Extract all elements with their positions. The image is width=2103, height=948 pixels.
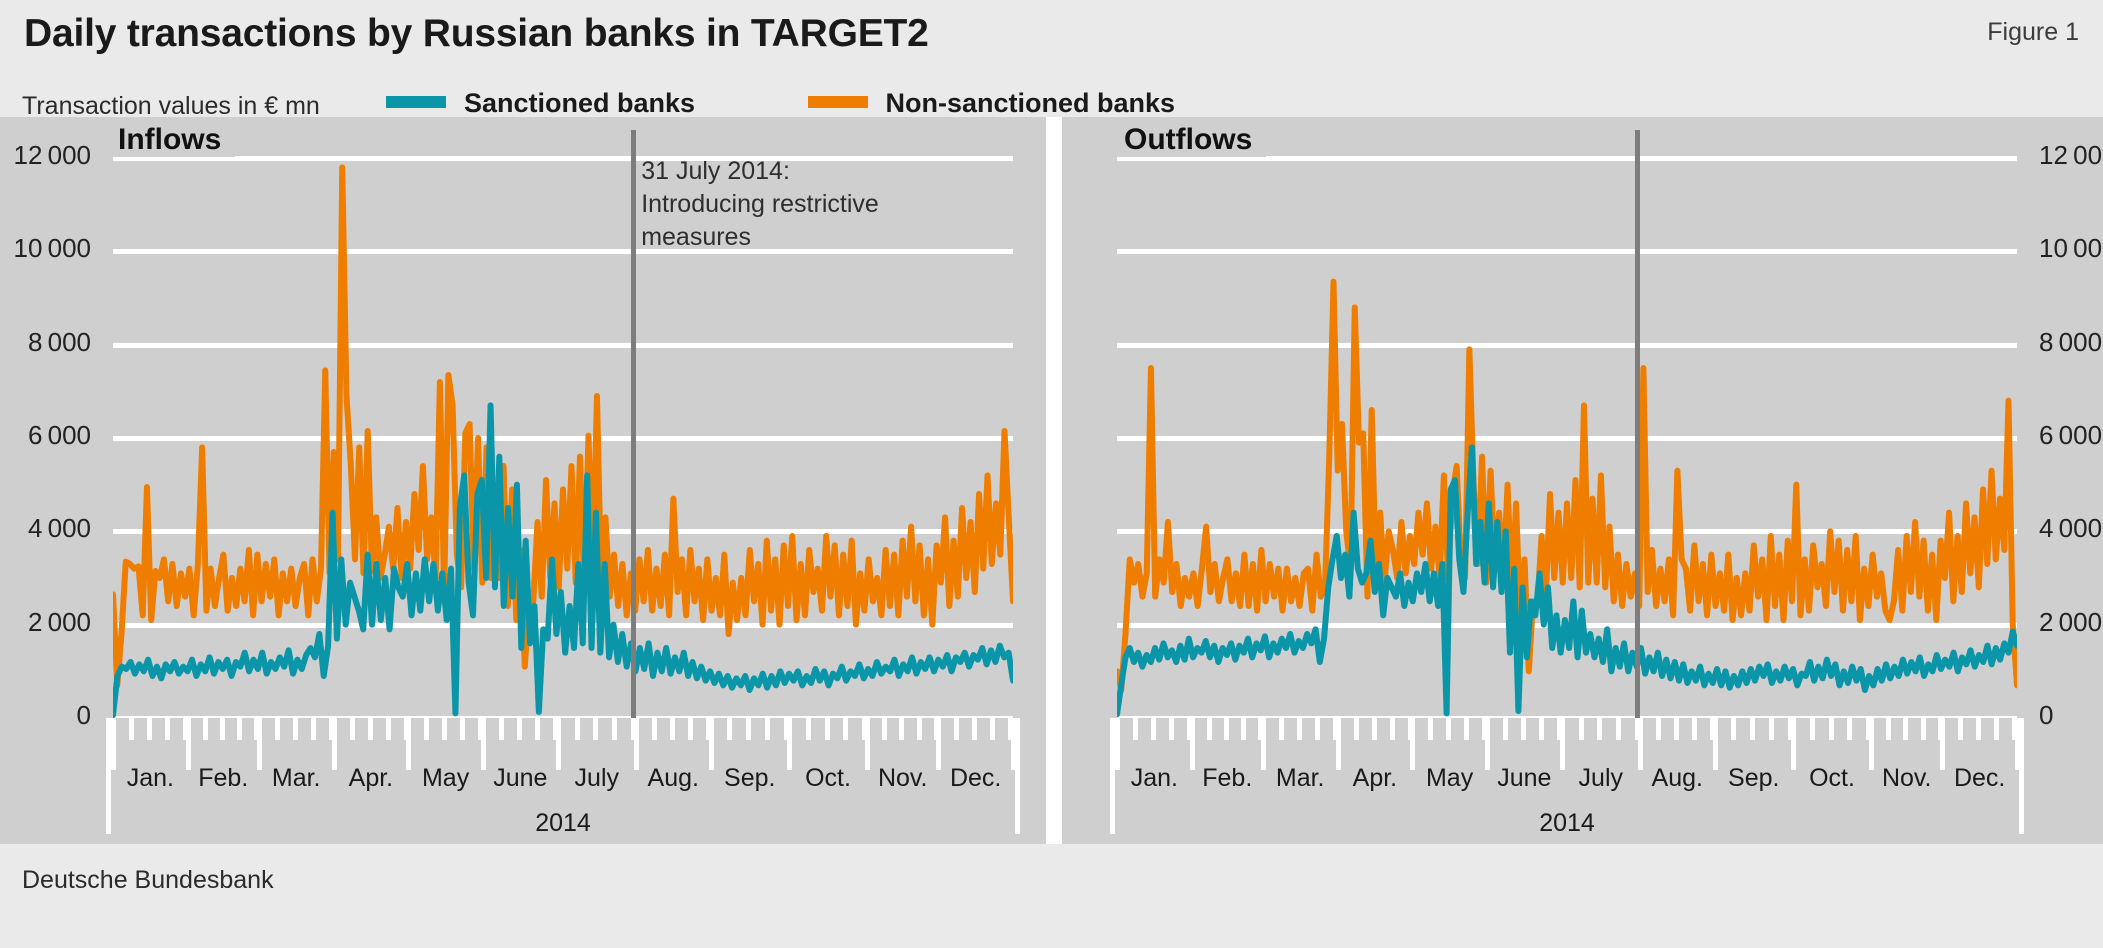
x-axis-week-tick	[917, 718, 922, 740]
x-axis-month-tick	[865, 718, 870, 770]
x-axis-week-tick	[1428, 718, 1433, 740]
x-axis-month-tick	[257, 718, 262, 770]
x-axis-week-tick	[612, 718, 617, 740]
x-axis-week-tick	[1958, 718, 1963, 740]
figure-footer: Deutsche Bundesbank	[0, 844, 2103, 948]
y-axis-tick-label: 0	[0, 700, 91, 731]
y-axis-tick-label: 12 000	[2039, 140, 2103, 171]
x-axis-month-tick	[332, 718, 337, 770]
x-axis-week-tick	[1903, 718, 1908, 740]
x-axis-week-tick	[460, 718, 465, 740]
series-svg	[1117, 130, 2017, 718]
x-axis-month-tick	[186, 718, 191, 770]
x-axis-week-tick	[1521, 718, 1526, 740]
x-axis-month-tick	[709, 718, 714, 770]
x-axis-week-tick	[593, 718, 598, 740]
x-axis-week-tick	[1539, 718, 1544, 740]
x-axis-week-tick	[1224, 718, 1229, 740]
x-axis-month-tick	[556, 718, 561, 770]
x-axis-month-tick	[1560, 718, 1565, 770]
x-axis-year-inflows: 2014	[113, 809, 1013, 838]
x-axis-week-tick	[237, 718, 242, 740]
x-axis-month-tick	[634, 718, 639, 770]
x-axis-week-tick	[806, 718, 811, 740]
x-axis-week-tick	[1503, 718, 1508, 740]
x-axis-month-tick	[1485, 718, 1490, 770]
x-axis-week-tick	[670, 718, 675, 740]
x-axis-month-tick	[1336, 718, 1341, 770]
charts-band: Inflows 31 July 2014: Introducing restri…	[0, 117, 2103, 844]
x-axis-week-tick	[746, 718, 751, 740]
y-axis-tick-label: 12 000	[0, 140, 91, 171]
x-axis-week-tick	[424, 718, 429, 740]
x-axis-week-tick	[1674, 718, 1679, 740]
x-axis-month-tick	[1940, 718, 1945, 770]
x-axis-week-tick	[1151, 718, 1156, 740]
chart-legend: Sanctioned banks Non-sanctioned banks	[386, 88, 1283, 120]
y-axis-tick-label: 4 000	[2039, 513, 2103, 544]
figure-page: Daily transactions by Russian banks in T…	[0, 0, 2103, 948]
x-axis-week-tick	[147, 718, 152, 740]
x-axis-week-tick	[220, 718, 225, 740]
y-axis-tick-label: 10 000	[2039, 233, 2103, 264]
x-axis-month-label: Dec.	[916, 764, 1036, 793]
x-axis-week-tick	[293, 718, 298, 740]
y-axis-tick-label: 2 000	[2039, 607, 2103, 638]
x-axis-month-tick	[2015, 718, 2020, 770]
x-axis-week-tick	[1886, 718, 1891, 740]
x-axis-month-tick	[1791, 718, 1796, 770]
event-vertical-line	[1635, 130, 1640, 718]
x-axis-week-tick	[652, 718, 657, 740]
event-annotation: 31 July 2014: Introducing restrictive me…	[641, 155, 879, 254]
figure-number-label: Figure 1	[1987, 18, 2079, 47]
x-axis-week-tick	[990, 718, 995, 740]
x-axis-month-tick	[1011, 718, 1016, 770]
x-axis-year-outflows: 2014	[1117, 809, 2017, 838]
legend-item-sanctioned: Sanctioned banks	[386, 88, 695, 119]
x-axis-week-tick	[1579, 718, 1584, 740]
legend-swatch-non-sanctioned	[808, 96, 868, 108]
x-axis-week-tick	[843, 718, 848, 740]
x-axis-week-tick	[517, 718, 522, 740]
x-axis-week-tick	[1446, 718, 1451, 740]
x-axis-week-tick	[1597, 718, 1602, 740]
legend-item-non-sanctioned: Non-sanctioned banks	[808, 88, 1176, 119]
x-axis-week-tick	[386, 718, 391, 740]
panel-inflows: Inflows 31 July 2014: Introducing restri…	[0, 117, 1046, 844]
x-axis-month-tick	[1638, 718, 1643, 770]
legend-swatch-sanctioned	[386, 96, 446, 108]
x-axis-month-tick	[406, 718, 411, 770]
x-axis-week-tick	[765, 718, 770, 740]
x-axis-month-tick	[1869, 718, 1874, 770]
x-axis-week-tick	[1372, 718, 1377, 740]
legend-label-sanctioned: Sanctioned banks	[464, 88, 695, 119]
y-axis-tick-label: 6 000	[2039, 420, 2103, 451]
x-axis-week-tick	[499, 718, 504, 740]
x-axis-week-tick	[1315, 718, 1320, 740]
x-axis-week-tick	[129, 718, 134, 740]
legend-label-non-sanctioned: Non-sanctioned banks	[886, 88, 1176, 119]
x-axis-week-tick	[825, 718, 830, 740]
x-axis-week-tick	[1297, 718, 1302, 740]
x-axis-week-tick	[954, 718, 959, 740]
x-axis-week-tick	[575, 718, 580, 740]
page-title: Daily transactions by Russian banks in T…	[24, 12, 929, 56]
x-axis-month-tick	[1115, 718, 1120, 770]
y-axis-tick-label: 10 000	[0, 233, 91, 264]
x-axis-week-tick	[1810, 718, 1815, 740]
x-axis-week-tick	[1692, 718, 1697, 740]
event-vertical-line	[631, 130, 636, 718]
x-axis-week-tick	[1169, 718, 1174, 740]
x-axis-week-tick	[203, 718, 208, 740]
x-axis-week-tick	[1279, 718, 1284, 740]
x-axis-week-tick	[535, 718, 540, 740]
x-axis-month-label: Dec.	[1920, 764, 2040, 793]
x-axis-week-tick	[727, 718, 732, 740]
x-axis-month-tick	[936, 718, 941, 770]
x-axis-week-tick	[442, 718, 447, 740]
x-axis-week-tick	[1390, 718, 1395, 740]
x-axis-week-tick	[1994, 718, 1999, 740]
x-axis-week-tick	[1750, 718, 1755, 740]
x-axis-month-tick	[1190, 718, 1195, 770]
panel-title-inflows: Inflows	[104, 123, 235, 157]
y-axis-tick-label: 8 000	[2039, 327, 2103, 358]
x-axis-week-tick	[165, 718, 170, 740]
source-label: Deutsche Bundesbank	[22, 866, 274, 895]
x-axis-week-tick	[882, 718, 887, 740]
x-axis-week-tick	[1921, 718, 1926, 740]
panel-title-outflows: Outflows	[1110, 123, 1266, 157]
y-axis-tick-label: 8 000	[0, 327, 91, 358]
x-axis-week-tick	[1133, 718, 1138, 740]
plot-area-outflows	[1117, 130, 2017, 718]
y-axis-tick-label: 4 000	[0, 513, 91, 544]
x-axis-week-tick	[1829, 718, 1834, 740]
x-axis-week-tick	[1731, 718, 1736, 740]
x-axis-week-tick	[311, 718, 316, 740]
x-axis-week-tick	[275, 718, 280, 740]
y-axis-tick-label: 6 000	[0, 420, 91, 451]
x-axis-week-tick	[1207, 718, 1212, 740]
x-axis-week-tick	[1976, 718, 1981, 740]
x-axis-week-tick	[1769, 718, 1774, 740]
x-axis-month-tick	[481, 718, 486, 770]
x-axis-week-tick	[1354, 718, 1359, 740]
x-axis-week-tick	[1464, 718, 1469, 740]
x-axis-week-tick	[899, 718, 904, 740]
x-axis-week-tick	[1656, 718, 1661, 740]
x-axis-month-tick	[1261, 718, 1266, 770]
x-axis-month-tick	[111, 718, 116, 770]
x-axis-week-tick	[1241, 718, 1246, 740]
panel-outflows: Outflows Jan.Feb.Mar.Apr.MayJuneJulyAug.…	[1062, 117, 2103, 844]
x-axis-month-tick	[1410, 718, 1415, 770]
x-axis-week-tick	[368, 718, 373, 740]
x-axis-week-tick	[1616, 718, 1621, 740]
x-axis-week-tick	[350, 718, 355, 740]
x-axis-week-tick	[1847, 718, 1852, 740]
x-axis-month-tick	[787, 718, 792, 770]
x-axis-month-tick	[1713, 718, 1718, 770]
y-axis-tick-label: 2 000	[0, 607, 91, 638]
x-axis-week-tick	[972, 718, 977, 740]
y-axis-tick-label: 0	[2039, 700, 2103, 731]
x-axis-week-tick	[688, 718, 693, 740]
